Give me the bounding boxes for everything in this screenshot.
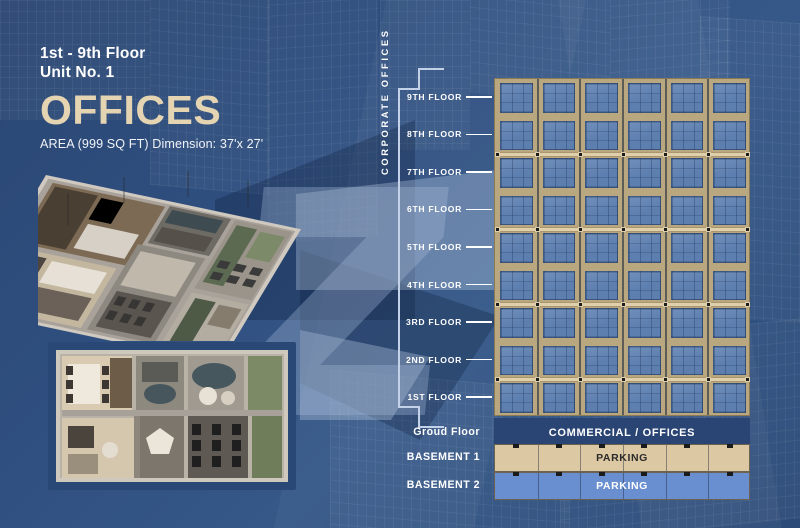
area-dimension-text: AREA (999 SQ FT) Dimension: 37'x 27' [40, 137, 370, 151]
floor-label-8: 8TH FLOOR [407, 129, 462, 139]
window-pane [585, 233, 618, 263]
window-pane [500, 158, 533, 188]
floor-label-7: 7TH FLOOR [407, 167, 462, 177]
window-pane [585, 271, 618, 301]
bar-tick [684, 472, 690, 476]
window-pane [543, 196, 576, 226]
window-pane [500, 196, 533, 226]
bottom-row-value-2: PARKING [495, 480, 749, 492]
column-marker [663, 302, 668, 307]
column-marker [706, 227, 711, 232]
window-pane [713, 346, 746, 376]
floor-connector-line [466, 321, 492, 323]
column-marker [745, 302, 750, 307]
column-marker [706, 302, 711, 307]
window-pane [628, 83, 661, 113]
column-marker [706, 152, 711, 157]
floor-connector-line [466, 171, 492, 173]
window-pane [628, 346, 661, 376]
floor-connector-line [466, 134, 492, 136]
eyebrow-line-1: 1st - 9th Floor [40, 44, 370, 63]
bar-tick [599, 444, 605, 448]
window-pane [671, 83, 704, 113]
bar-tick [641, 472, 647, 476]
window-pane [500, 233, 533, 263]
eyebrow-line-2: Unit No. 1 [40, 63, 370, 82]
floor-label-4: 4TH FLOOR [407, 280, 462, 290]
window-pane [628, 271, 661, 301]
floor-label-3: 3RD FLOOR [406, 317, 462, 327]
floor-connector-line [466, 209, 492, 211]
floor-connector-line [466, 396, 492, 398]
window-pane [585, 346, 618, 376]
floor-connector-line [466, 359, 492, 361]
floor-label-5: 5TH FLOOR [407, 242, 462, 252]
window-pane [543, 83, 576, 113]
window-pane [543, 383, 576, 413]
window-pane [671, 196, 704, 226]
column-marker [621, 227, 626, 232]
window-pane [500, 308, 533, 338]
window-pane [671, 233, 704, 263]
bracket-label: CORPORATE OFFICES [379, 28, 390, 175]
bar-tick [556, 444, 562, 448]
column-marker [578, 377, 583, 382]
window-pane [500, 121, 533, 151]
bar-tick [513, 472, 519, 476]
window-pane [500, 346, 533, 376]
bar-tick [727, 444, 733, 448]
mullion [622, 79, 624, 415]
window-pane [543, 233, 576, 263]
window-pane [585, 196, 618, 226]
building-elevation [494, 78, 750, 416]
window-pane [628, 308, 661, 338]
column-marker [578, 227, 583, 232]
window-pane [671, 121, 704, 151]
window-pane [543, 346, 576, 376]
isometric-floorplan-render [38, 163, 310, 341]
bar-tick [513, 444, 519, 448]
headline-block: 1st - 9th Floor Unit No. 1 OFFICES AREA … [40, 44, 370, 151]
mullion [579, 79, 581, 415]
column-marker [745, 227, 750, 232]
bottom-row-value-1: PARKING [495, 452, 749, 464]
window-pane [585, 83, 618, 113]
window-pane [543, 121, 576, 151]
window-pane [585, 121, 618, 151]
column-marker [495, 302, 500, 307]
window-pane [585, 308, 618, 338]
column-marker [578, 302, 583, 307]
column-marker [706, 377, 711, 382]
floor-connector-line [466, 284, 492, 286]
window-pane [543, 271, 576, 301]
basement-bar-1: PARKING [494, 444, 750, 472]
bottom-row-label-2: BASEMENT 2 [407, 479, 480, 491]
window-pane [671, 383, 704, 413]
bar-tick [599, 472, 605, 476]
column-marker [621, 377, 626, 382]
mullion [665, 79, 667, 415]
window-pane [713, 308, 746, 338]
window-pane [543, 158, 576, 188]
column-marker [495, 152, 500, 157]
bar-tick [684, 444, 690, 448]
bottom-row-value-0: COMMERCIAL / OFFICES [494, 427, 750, 439]
window-pane [713, 271, 746, 301]
bar-tick [556, 472, 562, 476]
column-marker [663, 377, 668, 382]
column-marker [535, 302, 540, 307]
window-pane [628, 121, 661, 151]
column-marker [745, 152, 750, 157]
bar-tick [727, 472, 733, 476]
basement-bar-2: PARKING [494, 472, 750, 500]
window-pane [628, 233, 661, 263]
window-pane [500, 83, 533, 113]
window-pane [671, 308, 704, 338]
column-marker [663, 227, 668, 232]
window-pane [543, 308, 576, 338]
page-title: OFFICES [40, 89, 370, 132]
window-pane [671, 271, 704, 301]
bar-tick [641, 444, 647, 448]
window-pane [628, 196, 661, 226]
floor-label-1: 1ST FLOOR [407, 392, 462, 402]
topdown-floorplan-render [48, 342, 296, 490]
window-pane [713, 233, 746, 263]
column-marker [745, 377, 750, 382]
floor-label-9: 9TH FLOOR [407, 92, 462, 102]
mullion [707, 79, 709, 415]
window-pane [628, 158, 661, 188]
window-pane [713, 196, 746, 226]
window-pane [713, 83, 746, 113]
column-marker [535, 377, 540, 382]
window-pane [671, 346, 704, 376]
floor-label-2: 2ND FLOOR [406, 355, 462, 365]
floor-label-6: 6TH FLOOR [407, 204, 462, 214]
window-pane [713, 121, 746, 151]
window-pane [500, 271, 533, 301]
column-marker [495, 377, 500, 382]
mullion [537, 79, 539, 415]
window-pane [500, 383, 533, 413]
bottom-row-label-1: BASEMENT 1 [407, 451, 480, 463]
column-marker [621, 152, 626, 157]
window-pane [585, 158, 618, 188]
window-pane [713, 383, 746, 413]
column-marker [535, 152, 540, 157]
window-pane [671, 158, 704, 188]
column-marker [535, 227, 540, 232]
column-marker [663, 152, 668, 157]
floor-connector-line [466, 246, 492, 248]
window-pane [628, 383, 661, 413]
window-pane [585, 383, 618, 413]
poster-canvas: 1st - 9th Floor Unit No. 1 OFFICES AREA … [0, 0, 800, 528]
column-marker [578, 152, 583, 157]
window-pane [713, 158, 746, 188]
floor-connector-line [466, 96, 492, 98]
column-marker [495, 227, 500, 232]
bottom-row-label-0: Groud Floor [413, 426, 480, 438]
column-marker [621, 302, 626, 307]
